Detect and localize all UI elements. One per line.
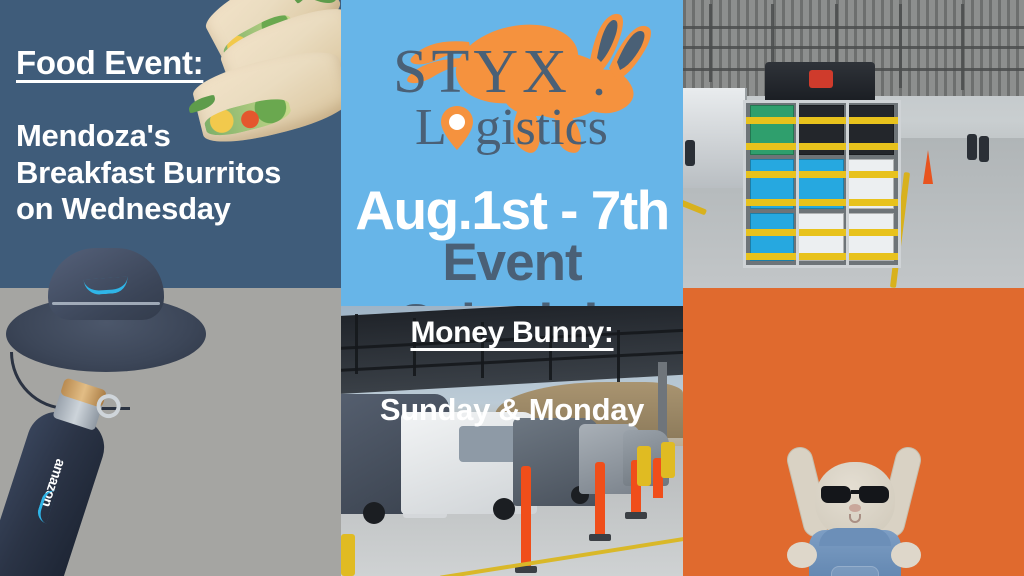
bunny-nose: [849, 504, 861, 512]
hoodie-pocket: [831, 566, 879, 576]
bucket-hat-photo: [6, 248, 206, 378]
bollard-icon: [661, 442, 675, 478]
bollard-icon: [341, 534, 355, 576]
money-bunny-heading: Money Bunny:: [0, 316, 1024, 350]
food-event-body-line: Breakfast Burritos: [16, 155, 316, 192]
food-event-body-line: on Wednesday: [16, 191, 316, 228]
styx-logistics-logo: STYX L gistics: [341, 8, 683, 168]
traffic-cone-icon: [595, 462, 605, 534]
bollard-icon: [637, 446, 651, 486]
logo-wordmark-styx: STYX: [393, 38, 571, 106]
cargo-strap: [746, 253, 898, 260]
schedule-subtitle: Event Schedule: [341, 232, 683, 306]
rabbit-eye: [596, 89, 603, 96]
roll-cage-cart: [743, 100, 901, 268]
panel-food-event: Food Event: Mendoza's Breakfast Burritos…: [0, 0, 341, 288]
traffic-cone-icon: [521, 466, 531, 566]
panel-schedule: STYX L gistics Aug.1st - 7th Event Sched…: [341, 0, 683, 306]
logo-wordmark-l: L: [415, 99, 447, 156]
panel-warehouse-photo: [683, 0, 1024, 288]
truck-brake-light: [809, 70, 833, 88]
cargo-strap: [746, 143, 898, 150]
delivery-van-icon: [683, 88, 747, 188]
bunny-paw: [891, 542, 921, 568]
van-windshield: [459, 426, 521, 462]
sunglasses-icon: [821, 486, 889, 503]
money-bunny-body: Sunday & Monday: [0, 392, 1024, 429]
cargo-strap: [746, 199, 898, 206]
event-schedule-poster: Food Event: Mendoza's Breakfast Burritos…: [0, 0, 1024, 576]
plush-bunny-photo: [779, 436, 929, 576]
cargo-strap: [746, 117, 898, 124]
bunny-paw: [787, 542, 817, 568]
food-event-heading: Food Event:: [16, 44, 203, 82]
cargo-strap: [746, 171, 898, 178]
traffic-cone-icon: [923, 150, 933, 184]
food-event-body-line: Mendoza's: [16, 118, 316, 155]
warehouse-scene: [683, 0, 1024, 288]
hat-stripe: [52, 302, 160, 305]
logo-wordmark-gistics: gistics: [475, 99, 608, 156]
bunny-hood: [819, 528, 891, 546]
cargo-strap: [746, 229, 898, 236]
logo-artwork: STYX L gistics: [341, 8, 683, 168]
food-event-body: Mendoza's Breakfast Burritos on Wednesda…: [16, 118, 316, 228]
